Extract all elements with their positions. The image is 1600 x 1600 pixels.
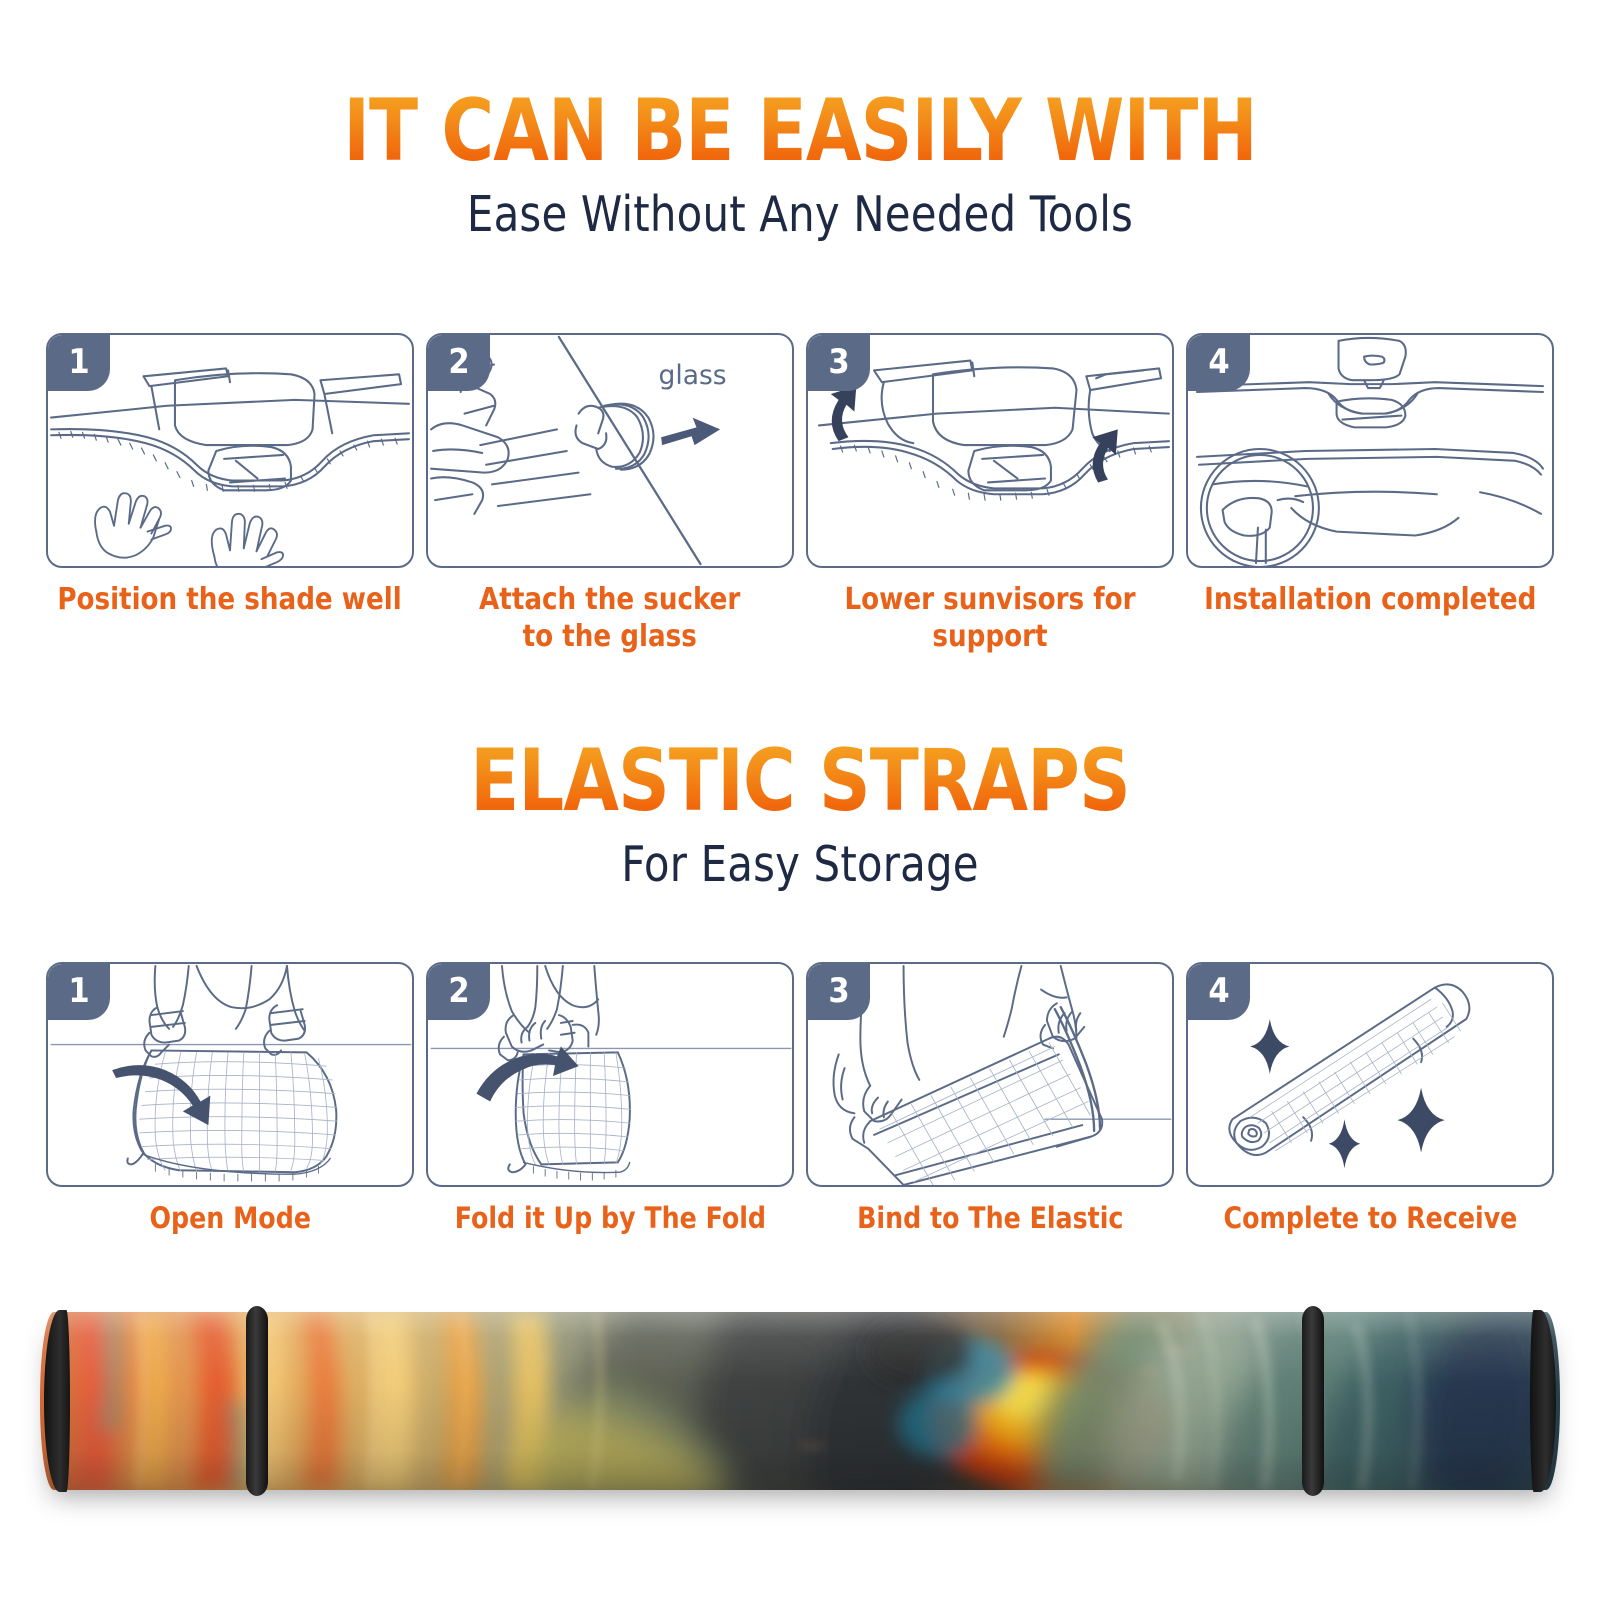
step-caption: Attach the sucker to the glass — [479, 582, 740, 655]
step-number-badge: 3 — [808, 335, 870, 391]
infographic-page: IT CAN BE EASILY WITH Ease Without Any N… — [0, 0, 1600, 1600]
illustration-card: 4 — [1186, 333, 1554, 568]
illustration-card: 4 — [1186, 962, 1554, 1187]
step-number-badge: 2 — [428, 335, 490, 391]
illustration-card: 1 — [46, 962, 414, 1187]
illustration-card: 1 — [46, 333, 414, 568]
illustration-card: 3 — [806, 962, 1174, 1187]
roll-end-left — [44, 1310, 70, 1492]
step-caption: Bind to The Elastic — [857, 1201, 1123, 1236]
sunshade-roll-body — [40, 1312, 1560, 1490]
step-card-install-3: 3 — [806, 333, 1174, 655]
step-card-install-2: 2 — [426, 333, 794, 655]
glass-label: glass — [659, 360, 727, 391]
product-image-section — [0, 1300, 1600, 1520]
illustration-card: 2 — [426, 962, 794, 1187]
illustration-card: 2 — [426, 333, 794, 568]
step-card-storage-3: 3 — [806, 962, 1174, 1236]
step-row-storage: 1 — [0, 962, 1600, 1236]
page-subtitle-install: Ease Without Any Needed Tools — [40, 186, 1560, 243]
step-number-badge: 1 — [48, 964, 110, 1020]
step-card-storage-2: 2 — [426, 962, 794, 1236]
step-caption: Lower sunvisors for support — [844, 582, 1135, 655]
step-caption: Installation completed — [1204, 582, 1536, 619]
illustration-card: 3 — [806, 333, 1174, 568]
cylinder-shading — [40, 1312, 1560, 1490]
step-card-install-4: 4 — [1186, 333, 1554, 655]
step-number-badge: 2 — [428, 964, 490, 1020]
step-caption: Fold it Up by The Fold — [454, 1201, 765, 1236]
step-number-badge: 3 — [808, 964, 870, 1020]
step-caption: Complete to Receive — [1223, 1201, 1517, 1236]
rolled-sunshade — [0, 1300, 1600, 1530]
elastic-strap-left — [246, 1306, 268, 1496]
step-caption: Open Mode — [149, 1201, 310, 1236]
page-subtitle-storage: For Easy Storage — [40, 836, 1560, 893]
step-caption: Position the shade well — [58, 582, 402, 619]
page-title-install: IT CAN BE EASILY WITH — [56, 88, 1544, 176]
step-card-storage-4: 4 — [1186, 962, 1554, 1236]
step-card-install-1: 1 — [46, 333, 414, 655]
step-number-badge: 4 — [1188, 335, 1250, 391]
step-row-install: 1 — [0, 333, 1600, 655]
elastic-strap-right — [1302, 1306, 1324, 1496]
section-heading-install: IT CAN BE EASILY WITH Ease Without Any N… — [0, 88, 1600, 243]
step-number-badge: 4 — [1188, 964, 1250, 1020]
section-heading-storage: ELASTIC STRAPS For Easy Storage — [0, 738, 1600, 893]
step-number-badge: 1 — [48, 335, 110, 391]
page-title-storage: ELASTIC STRAPS — [56, 738, 1544, 826]
step-card-storage-1: 1 — [46, 962, 414, 1236]
